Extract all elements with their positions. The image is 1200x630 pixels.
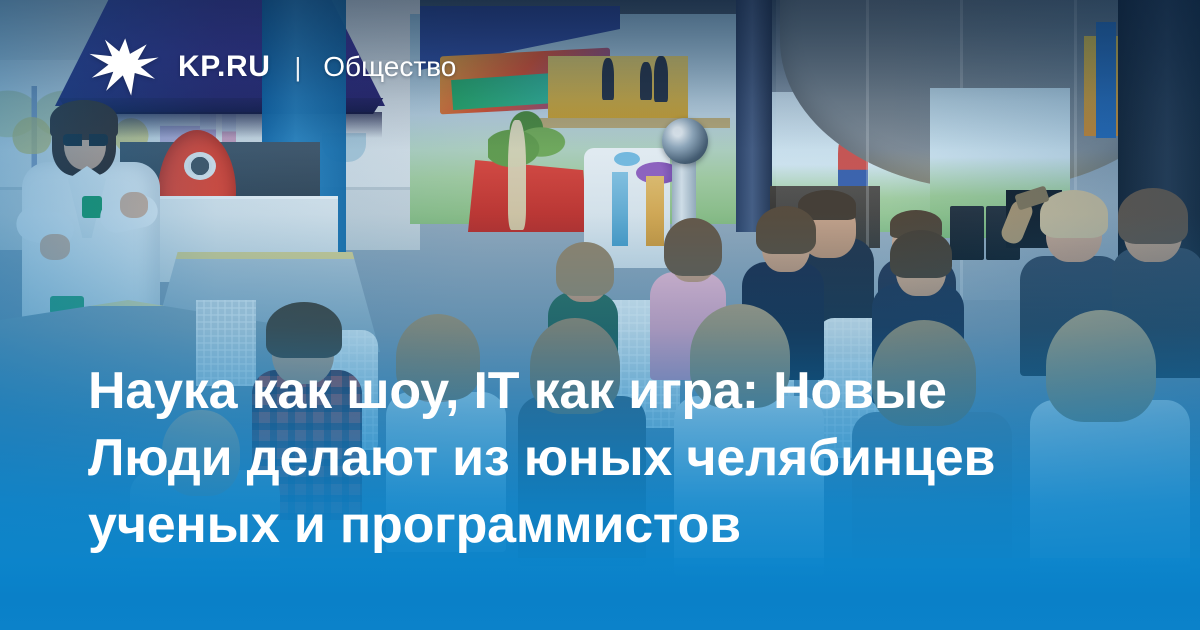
article-share-card: KP.RU | Общество Наука как шоу, IT как и… (0, 0, 1200, 630)
brand-name[interactable]: KP.RU (178, 50, 270, 84)
headline-line-1: Наука как шоу, IT как игра: Новые (88, 358, 1118, 425)
brand-separator: | (294, 52, 301, 83)
headline-line-2: Люди делают из юных челябинцев (88, 425, 1118, 492)
swallow-bird-icon[interactable] (88, 36, 160, 98)
article-headline[interactable]: Наука как шоу, IT как игра: Новые Люди д… (88, 358, 1118, 559)
bottom-solid-blue (0, 558, 1200, 630)
headline-line-3: ученых и программистов (88, 492, 1118, 559)
site-branding-header: KP.RU | Общество (88, 36, 456, 98)
rubric-label[interactable]: Общество (323, 51, 456, 83)
